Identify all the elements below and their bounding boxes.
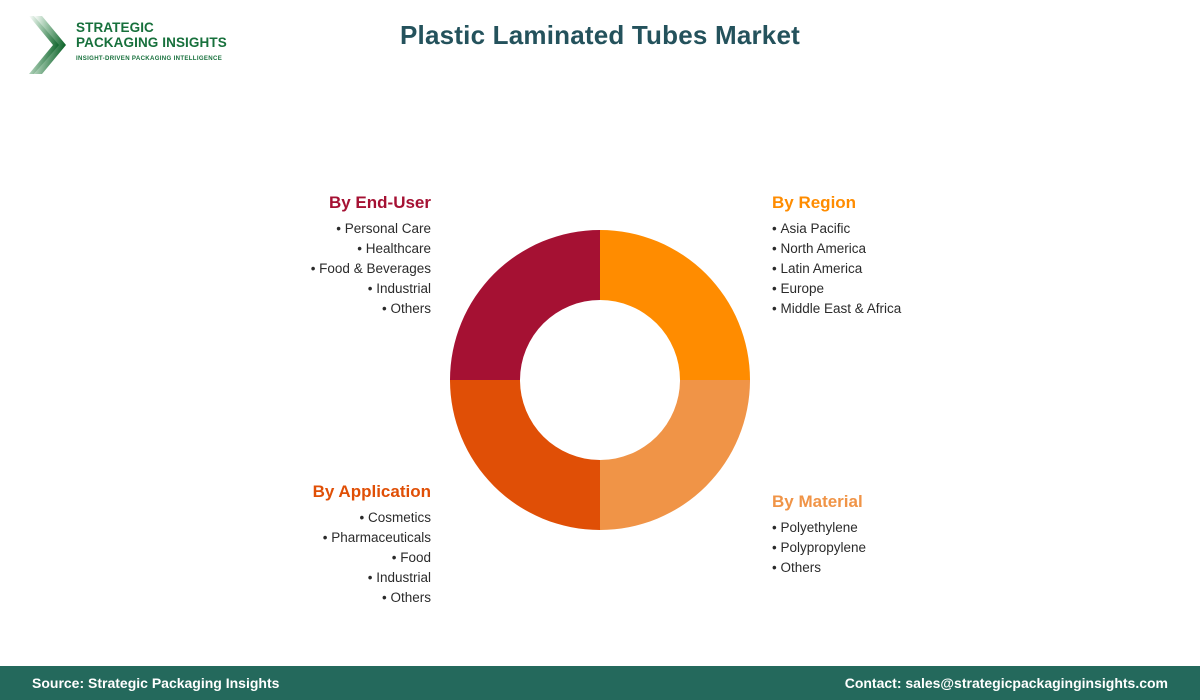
donut-slice-by-end-user [450,230,600,380]
donut-slice-by-material [600,380,750,530]
footer-source: Source: Strategic Packaging Insights [32,675,279,691]
list-item: • Personal Care [205,219,431,239]
list-item-label: Food [400,550,431,565]
bullet-icon: • [336,221,344,236]
footer-bar: Source: Strategic Packaging Insights Con… [0,666,1200,700]
list-item: • Pharmaceuticals [185,528,431,548]
market-segmentation-donut-chart [450,230,750,530]
list-item: • Europe [772,279,1022,299]
list-item: • Cosmetics [185,508,431,528]
list-item: • Industrial [185,568,431,588]
bullet-icon: • [368,570,376,585]
list-item: • Healthcare [205,239,431,259]
bullet-icon: • [368,281,376,296]
list-item-label: Polyethylene [780,520,857,535]
segment-heading-material: By Material [772,492,1022,511]
segment-list-region: • Asia Pacific• North America• Latin Ame… [772,219,1022,319]
segment-heading-end-user: By End-User [205,193,431,212]
list-item: • Others [185,588,431,608]
list-item-label: Cosmetics [368,510,431,525]
list-item-label: Others [390,590,431,605]
list-item-label: Healthcare [366,241,431,256]
list-item: • Food [185,548,431,568]
list-item-label: Food & Beverages [319,261,431,276]
list-item: • Others [772,558,1022,578]
list-item-label: Industrial [376,281,431,296]
list-item-label: Pharmaceuticals [331,530,431,545]
segment-heading-application: By Application [185,482,431,501]
logo-tagline: INSIGHT-DRIVEN PACKAGING INTELLIGENCE [76,55,216,62]
list-item: • Others [205,299,431,319]
list-item-label: North America [780,241,866,256]
bullet-icon: • [311,261,319,276]
donut-slice-by-region [600,230,750,380]
list-item: • Polypropylene [772,538,1022,558]
list-item: • Food & Beverages [205,259,431,279]
list-item-label: Others [780,560,821,575]
segment-block-end-user: By End-User • Personal Care• Healthcare•… [205,193,431,319]
segment-block-region: By Region • Asia Pacific• North America•… [772,193,1022,319]
list-item-label: Personal Care [345,221,431,236]
donut-slice-by-application [450,380,600,530]
segment-list-end-user: • Personal Care• Healthcare• Food & Beve… [205,219,431,319]
list-item-label: Industrial [376,570,431,585]
list-item: • Middle East & Africa [772,299,1022,319]
bullet-icon: • [360,510,368,525]
bullet-icon: • [392,550,400,565]
bullet-icon: • [357,241,365,256]
footer-contact: Contact: sales@strategicpackaginginsight… [845,675,1168,691]
segment-list-material: • Polyethylene• Polypropylene• Others [772,518,1022,578]
list-item-label: Latin America [780,261,862,276]
list-item-label: Polypropylene [780,540,866,555]
list-item: • Polyethylene [772,518,1022,538]
segment-block-application: By Application • Cosmetics• Pharmaceutic… [185,482,431,608]
list-item: • Latin America [772,259,1022,279]
list-item: • Asia Pacific [772,219,1022,239]
segment-heading-region: By Region [772,193,1022,212]
bullet-icon: • [323,530,331,545]
list-item-label: Others [390,301,431,316]
list-item: • North America [772,239,1022,259]
segment-list-application: • Cosmetics• Pharmaceuticals• Food• Indu… [185,508,431,608]
list-item-label: Europe [780,281,824,296]
segment-block-material: By Material • Polyethylene• Polypropylen… [772,492,1022,578]
page-title: Plastic Laminated Tubes Market [0,20,1200,51]
list-item: • Industrial [205,279,431,299]
list-item-label: Middle East & Africa [780,301,901,316]
list-item-label: Asia Pacific [780,221,850,236]
